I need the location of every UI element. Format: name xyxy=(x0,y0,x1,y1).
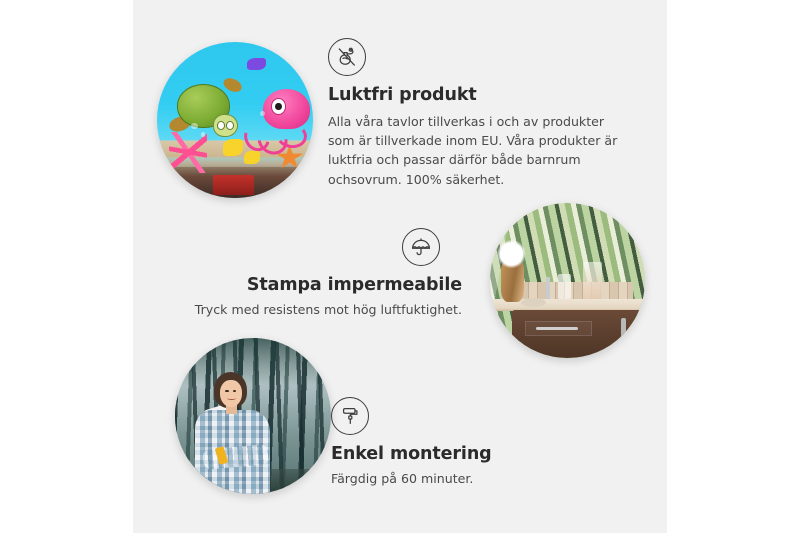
vanity-cabinet xyxy=(512,310,645,358)
door-handle xyxy=(621,318,626,346)
faucet xyxy=(546,277,551,299)
feature-block-waterproof: Stampa impermeabile Tryck med resistens … xyxy=(175,228,462,319)
turtle-head xyxy=(213,114,238,137)
bottle xyxy=(558,274,570,299)
ocean-scene xyxy=(157,42,313,198)
feature-description: Färgdig på 60 minuter. xyxy=(331,469,611,488)
fish-icon xyxy=(247,58,266,70)
paint-roller-icon xyxy=(331,397,369,435)
product-photo-ocean xyxy=(157,42,313,198)
bubble xyxy=(191,123,197,129)
face xyxy=(220,380,242,407)
fish-icon xyxy=(244,151,260,163)
forest-scene xyxy=(175,338,331,494)
umbrella-icon xyxy=(402,228,440,266)
soap-dish xyxy=(521,298,546,307)
fish-icon xyxy=(223,139,243,156)
flower xyxy=(493,240,530,268)
eye xyxy=(225,390,228,392)
feature-block-odorless: Luktfri produkt Alla våra tavlor tillver… xyxy=(328,38,624,189)
bathroom-scene xyxy=(490,203,645,358)
drawer-handle xyxy=(536,327,579,329)
bottle xyxy=(583,262,602,299)
product-photo-bathroom xyxy=(490,203,645,358)
feature-description: Tryck med resistens mot hög luftfuktighe… xyxy=(175,300,462,319)
feature-title: Luktfri produkt xyxy=(328,85,624,107)
octopus-head xyxy=(263,89,310,130)
feature-description: Alla våra tavlor tillverkas i och av pro… xyxy=(328,112,624,189)
product-photo-forest xyxy=(175,338,331,494)
no-fragrance-spray-icon xyxy=(328,38,366,76)
feature-block-easy-install: Enkel montering Färgdig på 60 minuter. xyxy=(331,397,611,488)
forest-canopy xyxy=(175,338,331,385)
feature-title: Enkel montering xyxy=(331,444,611,466)
coral-icon xyxy=(169,132,206,173)
promo-banner: Luktfri produkt Alla våra tavlor tillver… xyxy=(0,0,800,533)
feature-title: Stampa impermeabile xyxy=(175,275,462,297)
red-object xyxy=(213,175,254,195)
smile xyxy=(227,397,236,401)
eye xyxy=(233,390,236,392)
